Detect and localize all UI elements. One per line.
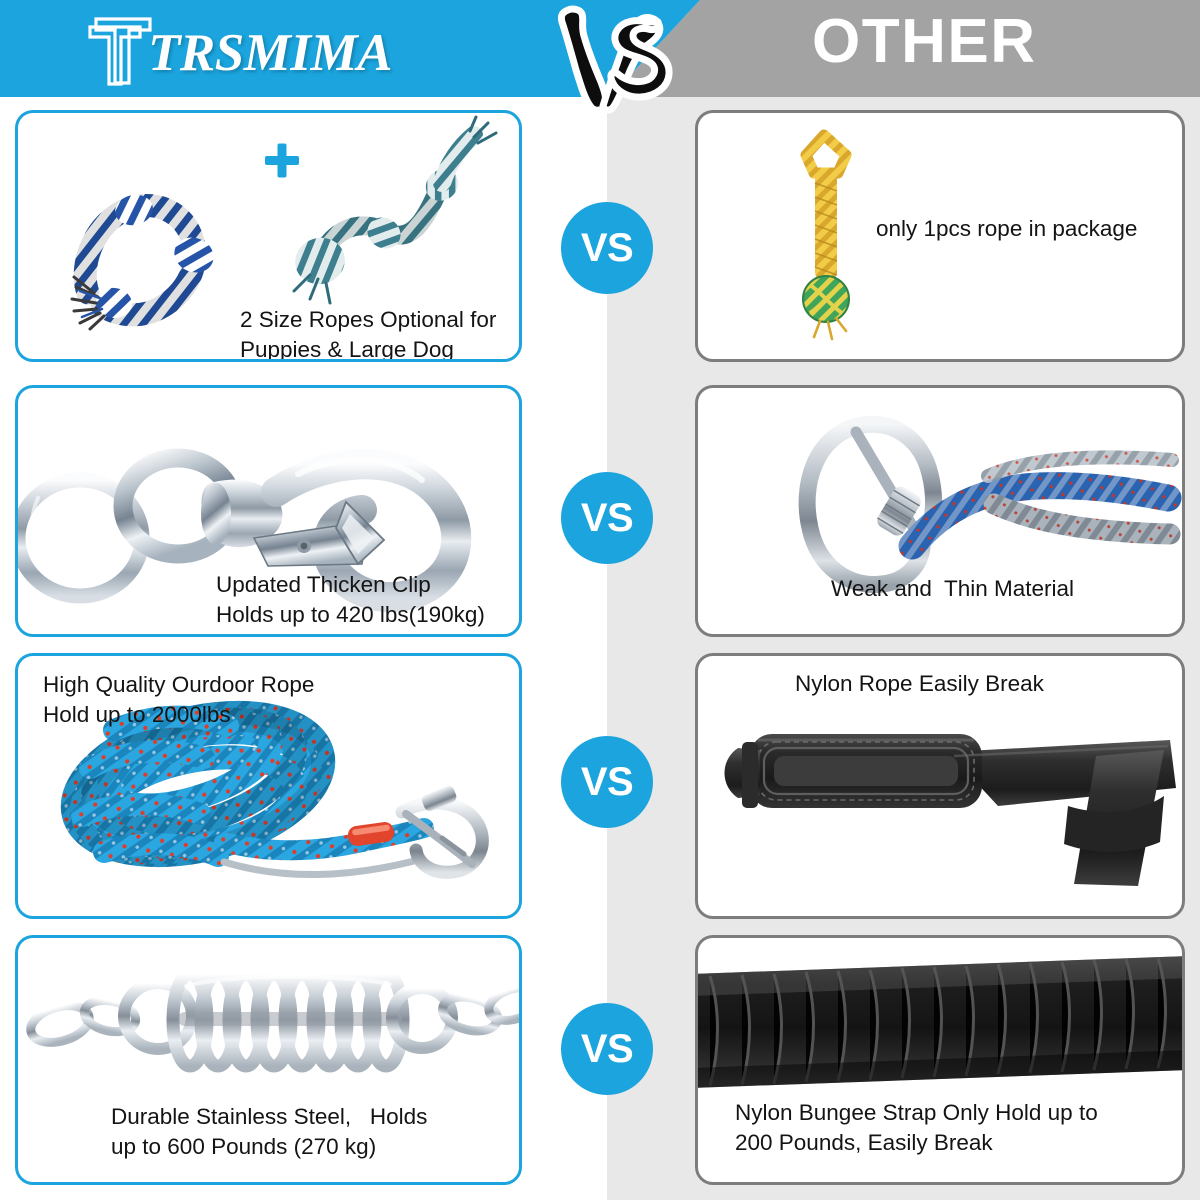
ours-card-row-4: Durable Stainless Steel, Holds up to 600… [15,935,522,1185]
comparison-infographic: TRSMIMA OTHER [0,0,1200,1200]
theirs-caption-row-1: only 1pcs rope in package [876,214,1137,244]
theirs-caption-row-4: Nylon Bungee Strap Only Hold up to 200 P… [735,1098,1098,1158]
theirs-card-row-2: Weak and Thin Material [695,385,1185,637]
vs-badge-row-2: VS [561,472,653,564]
ours-card-row-2: Updated Thicken Clip Holds up to 420 lbs… [15,385,522,637]
ours-caption-row-2: Updated Thicken Clip Holds up to 420 lbs… [216,570,485,630]
other-title: OTHER [812,11,1037,73]
theirs-card-row-1: only 1pcs rope in package [695,110,1185,362]
vs-brush-icon [548,2,678,114]
ours-caption-row-1: 2 Size Ropes Optional for Puppies & Larg… [240,305,496,362]
brand-name: TRSMIMA [148,27,392,88]
ours-card-row-1: 2 Size Ropes Optional for Puppies & Larg… [15,110,522,362]
ours-card-row-3: High Quality Ourdoor Rope Hold up to 200… [15,653,522,919]
theirs-caption-row-2: Weak and Thin Material [831,574,1074,604]
vs-badge-row-1: VS [561,202,653,294]
vs-badge-row-3: VS [561,736,653,828]
ours-caption-row-4: Durable Stainless Steel, Holds up to 600… [111,1102,427,1162]
theirs-card-row-4: Nylon Bungee Strap Only Hold up to 200 P… [695,935,1185,1185]
t-monogram-icon [88,14,158,88]
ours-caption-row-3: High Quality Ourdoor Rope Hold up to 200… [43,670,314,730]
vs-badge-row-4: VS [561,1003,653,1095]
plus-icon [265,144,299,178]
brand-logo: TRSMIMA [88,14,392,88]
theirs-caption-row-3: Nylon Rope Easily Break [795,669,1044,699]
theirs-card-row-3: Nylon Rope Easily Break [695,653,1185,919]
